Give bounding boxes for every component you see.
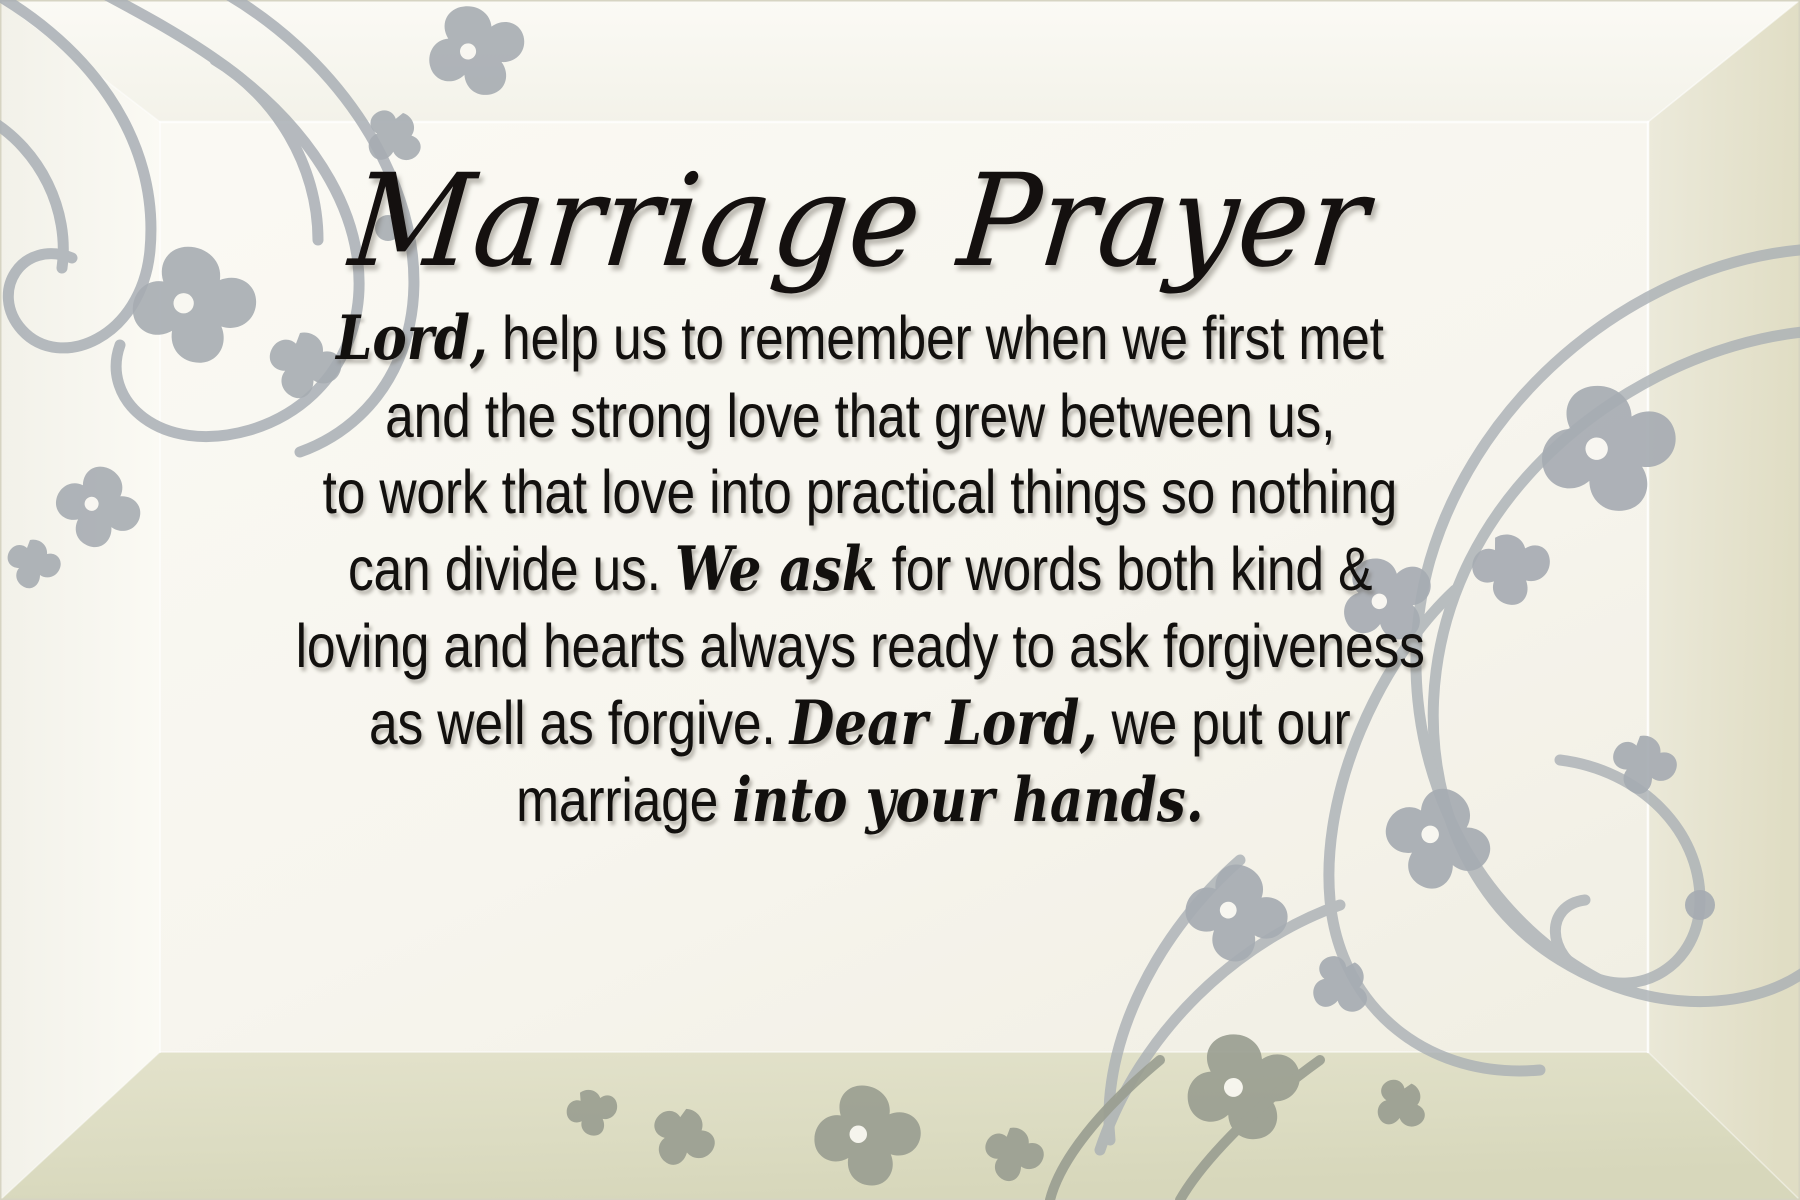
floral-ornament-right	[0, 0, 1800, 1200]
marriage-prayer-plaque: Marriage Prayer Lord, help us to remembe…	[0, 0, 1800, 1200]
